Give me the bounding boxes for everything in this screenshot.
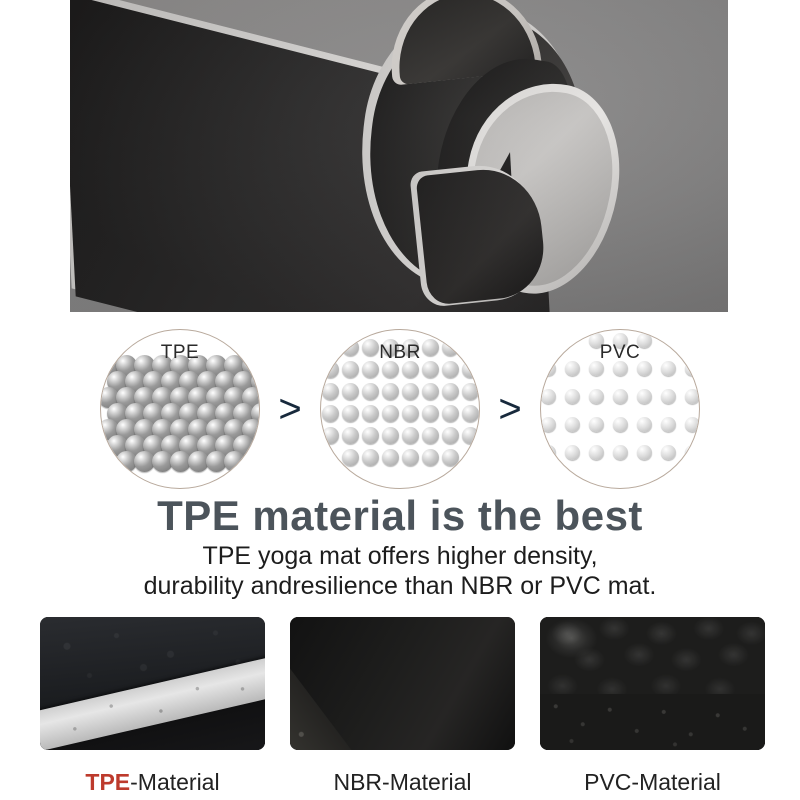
density-bead [565,445,580,460]
density-bead [322,427,339,444]
density-bead [541,445,556,460]
density-bead [613,445,628,460]
density-bubble-pvc: PVC [540,329,700,489]
density-bubble-tpe: TPE [100,329,260,489]
material-density-comparison: TPE > NBR > PVC [0,328,800,490]
greater-than-icon-1: > [260,389,320,429]
swatch-caption-nbr: NBR-Material [290,769,515,796]
density-bead [637,389,652,404]
swatch-caption-accent-nbr: NBR [333,769,382,795]
density-bead [402,383,419,400]
density-bead [442,383,459,400]
density-bead [322,383,339,400]
density-bead [685,389,700,404]
density-bubble-label-tpe: TPE [101,342,259,364]
density-bead [224,451,245,472]
swatch-caption-tpe: TPE-Material [40,769,265,796]
density-bead [613,417,628,432]
density-bead [661,417,676,432]
density-bead [402,449,419,466]
swatch-caption-rest-tpe: -Material [130,769,219,795]
density-bead [362,449,379,466]
density-bead [382,405,399,422]
density-bead [422,383,439,400]
density-bead [462,383,479,400]
greater-than-icon-2: > [480,389,540,429]
density-bead [382,449,399,466]
density-bead [362,405,379,422]
density-bubble-label-nbr: NBR [321,342,479,364]
density-bead [661,445,676,460]
density-bead [382,383,399,400]
tpe-material-photo [40,617,265,750]
swatch-caption-rest-nbr: -Material [382,769,471,795]
photo-vignette [70,0,728,312]
density-bead [462,405,479,422]
density-bead [541,389,556,404]
density-bead [589,417,604,432]
density-bead [342,405,359,422]
density-bead [565,389,580,404]
subheadline-line-1: TPE yoga mat offers higher density, [202,542,597,570]
density-bead [422,449,439,466]
density-bead [589,389,604,404]
pvc-grain-texture [540,694,765,750]
density-bead [442,405,459,422]
density-bead [685,417,700,432]
density-bead [442,449,459,466]
swatch-caption-accent-tpe: TPE [85,769,130,795]
density-bead [565,417,580,432]
rolled-yoga-mat-photo [70,0,728,312]
density-bead [613,389,628,404]
nbr-material-photo [290,617,515,750]
density-bead [462,427,479,444]
density-bead [685,445,700,460]
density-bead [422,427,439,444]
density-bead [661,389,676,404]
pvc-bump-texture [540,617,765,699]
density-bead [637,417,652,432]
bead-field-tpe [101,355,259,488]
page-headline: TPE material is the best [0,492,800,540]
density-bubble-label-pvc: PVC [541,342,699,364]
subheadline-line-2: durability andresilience than NBR or PVC… [0,572,800,602]
density-bead [442,427,459,444]
material-swatch-gallery: TPE-Material NBR-Material PVC-Material [0,617,800,800]
density-bead [541,417,556,432]
swatch-caption-rest-pvc: -Material [631,769,720,795]
density-bead [382,427,399,444]
page-subheadline: TPE yoga mat offers higher density, dura… [0,542,800,601]
density-bubble-nbr: NBR [320,329,480,489]
density-bead [342,383,359,400]
density-bead [637,445,652,460]
density-bead [342,427,359,444]
density-bead [402,427,419,444]
density-bead [362,383,379,400]
pvc-material-photo [540,617,765,750]
density-bead [402,405,419,422]
product-infographic-page: TPE > NBR > PVC TPE material is the best… [0,0,800,800]
swatch-caption-accent-pvc: PVC [584,769,631,795]
density-bead [362,427,379,444]
density-bead [342,449,359,466]
swatch-caption-pvc: PVC-Material [540,769,765,796]
density-bead [422,405,439,422]
density-bead [589,445,604,460]
density-bead [322,405,339,422]
